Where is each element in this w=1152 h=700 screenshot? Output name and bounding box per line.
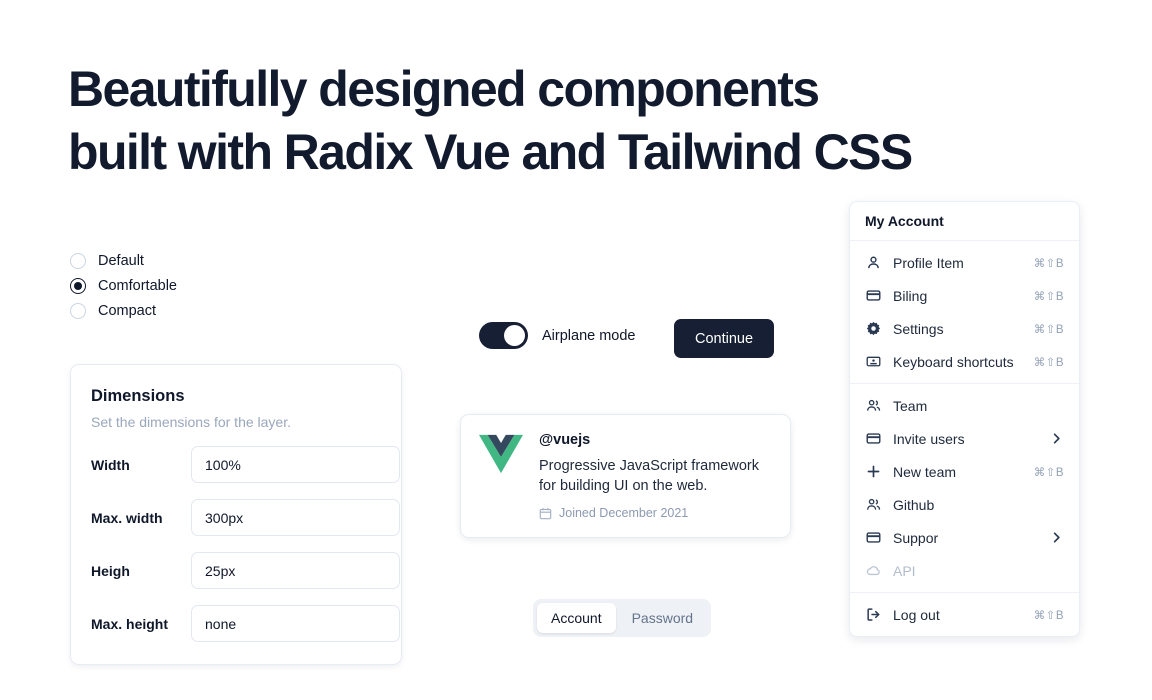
dimensions-subtitle: Set the dimensions for the layer. xyxy=(91,414,381,430)
menu-item-log-out[interactable]: Log out ⌘⇧B xyxy=(855,598,1074,631)
cloud-icon xyxy=(865,563,881,579)
menu-item-new-team-shortcut: ⌘⇧B xyxy=(1034,465,1064,479)
switch-knob xyxy=(504,325,525,346)
dimensions-card: Dimensions Set the dimensions for the la… xyxy=(70,364,402,665)
label-max-height: Max. height xyxy=(91,616,191,632)
input-max-width[interactable] xyxy=(191,499,400,536)
chevron-right-icon xyxy=(1050,531,1064,545)
menu-item-keyboard-shortcuts-label: Keyboard shortcuts xyxy=(893,354,1034,370)
airplane-mode-row: Airplane mode xyxy=(479,322,636,349)
calendar-icon xyxy=(539,507,552,520)
menu-item-team[interactable]: Team xyxy=(855,389,1074,422)
menu-item-keyboard-shortcuts[interactable]: Keyboard shortcuts ⌘⇧B xyxy=(855,345,1074,378)
page-title-line-2: built with Radix Vue and Tailwind CSS xyxy=(68,121,1028,184)
users-icon xyxy=(865,398,881,414)
menu-item-settings[interactable]: Settings ⌘⇧B xyxy=(855,312,1074,345)
label-width: Width xyxy=(91,457,191,473)
credit-card-icon xyxy=(865,288,881,304)
menu-group-team: Team Invite users xyxy=(850,384,1079,592)
credit-card-icon xyxy=(865,530,881,546)
menu-item-invite-users-label: Invite users xyxy=(893,431,1050,447)
dimensions-row-max-height: Max. height xyxy=(91,605,381,642)
radio-dot-icon xyxy=(74,282,82,290)
airplane-mode-label: Airplane mode xyxy=(542,328,636,344)
menu-group-account: Profile Item ⌘⇧B Biling ⌘⇧B xyxy=(850,241,1079,383)
vue-logo-icon xyxy=(479,434,523,474)
page-title: Beautifully designed components built wi… xyxy=(68,58,1028,183)
menu-item-new-team-label: New team xyxy=(893,464,1034,480)
menu-item-github-label: Github xyxy=(893,497,1064,513)
dimensions-row-max-width: Max. width xyxy=(91,499,381,536)
menu-group-logout: Log out ⌘⇧B xyxy=(850,593,1079,636)
radio-label-comfortable: Comfortable xyxy=(98,278,177,294)
menu-item-team-label: Team xyxy=(893,398,1064,414)
menu-item-billing-shortcut: ⌘⇧B xyxy=(1034,289,1064,303)
menu-item-billing[interactable]: Biling ⌘⇧B xyxy=(855,279,1074,312)
credit-card-icon xyxy=(865,431,881,447)
menu-item-support[interactable]: Suppor xyxy=(855,521,1074,554)
hover-card-body: @vuejs Progressive JavaScript framework … xyxy=(539,432,772,520)
hover-card-description: Progressive JavaScript framework for bui… xyxy=(539,456,772,496)
radio-option-comfortable[interactable]: Comfortable xyxy=(70,273,177,298)
input-height[interactable] xyxy=(191,552,400,589)
users-icon xyxy=(865,497,881,513)
page-title-line-1: Beautifully designed components xyxy=(68,58,1028,121)
menu-item-new-team[interactable]: New team ⌘⇧B xyxy=(855,455,1074,488)
airplane-mode-switch[interactable] xyxy=(479,322,528,349)
input-width[interactable] xyxy=(191,446,400,483)
dimensions-title: Dimensions xyxy=(91,387,381,406)
hover-card-handle: @vuejs xyxy=(539,432,772,448)
menu-item-profile[interactable]: Profile Item ⌘⇧B xyxy=(855,246,1074,279)
tab-account[interactable]: Account xyxy=(537,603,616,633)
chevron-right-icon xyxy=(1050,432,1064,446)
menu-header: My Account xyxy=(850,202,1079,240)
menu-item-log-out-shortcut: ⌘⇧B xyxy=(1034,608,1064,622)
radio-indicator-default[interactable] xyxy=(70,253,86,269)
plus-icon xyxy=(865,464,881,480)
radio-option-default[interactable]: Default xyxy=(70,248,177,273)
user-icon xyxy=(865,255,881,271)
menu-item-settings-label: Settings xyxy=(893,321,1034,337)
menu-item-api-label: API xyxy=(893,563,1064,579)
menu-item-invite-users[interactable]: Invite users xyxy=(855,422,1074,455)
radio-label-compact: Compact xyxy=(98,303,156,319)
dimensions-row-height: Heigh xyxy=(91,552,381,589)
menu-item-github[interactable]: Github xyxy=(855,488,1074,521)
tab-password[interactable]: Password xyxy=(618,603,707,633)
radio-option-compact[interactable]: Compact xyxy=(70,298,177,323)
joined-text: Joined December 2021 xyxy=(559,506,688,520)
hover-card-joined: Joined December 2021 xyxy=(539,506,772,520)
label-height: Heigh xyxy=(91,563,191,579)
menu-item-profile-shortcut: ⌘⇧B xyxy=(1034,256,1064,270)
menu-item-support-label: Suppor xyxy=(893,530,1050,546)
menu-item-log-out-label: Log out xyxy=(893,607,1034,623)
radio-indicator-compact[interactable] xyxy=(70,303,86,319)
continue-button[interactable]: Continue xyxy=(674,319,774,358)
vue-hover-card: @vuejs Progressive JavaScript framework … xyxy=(460,414,791,538)
gear-icon xyxy=(865,321,881,337)
logout-icon xyxy=(865,607,881,623)
density-radio-group: Default Comfortable Compact xyxy=(70,248,177,323)
menu-item-settings-shortcut: ⌘⇧B xyxy=(1034,322,1064,336)
radio-label-default: Default xyxy=(98,253,144,269)
menu-item-api: API xyxy=(855,554,1074,587)
menu-item-profile-label: Profile Item xyxy=(893,255,1034,271)
radio-indicator-comfortable[interactable] xyxy=(70,278,86,294)
input-max-height[interactable] xyxy=(191,605,400,642)
menu-item-billing-label: Biling xyxy=(893,288,1034,304)
account-dropdown-menu: My Account Profile Item ⌘⇧B xyxy=(849,201,1080,637)
page-root: Beautifully designed components built wi… xyxy=(0,0,1152,700)
keyboard-icon xyxy=(865,354,881,370)
settings-tabs: Account Password xyxy=(533,599,711,637)
menu-item-keyboard-shortcuts-shortcut: ⌘⇧B xyxy=(1034,355,1064,369)
dimensions-row-width: Width xyxy=(91,446,381,483)
label-max-width: Max. width xyxy=(91,510,191,526)
